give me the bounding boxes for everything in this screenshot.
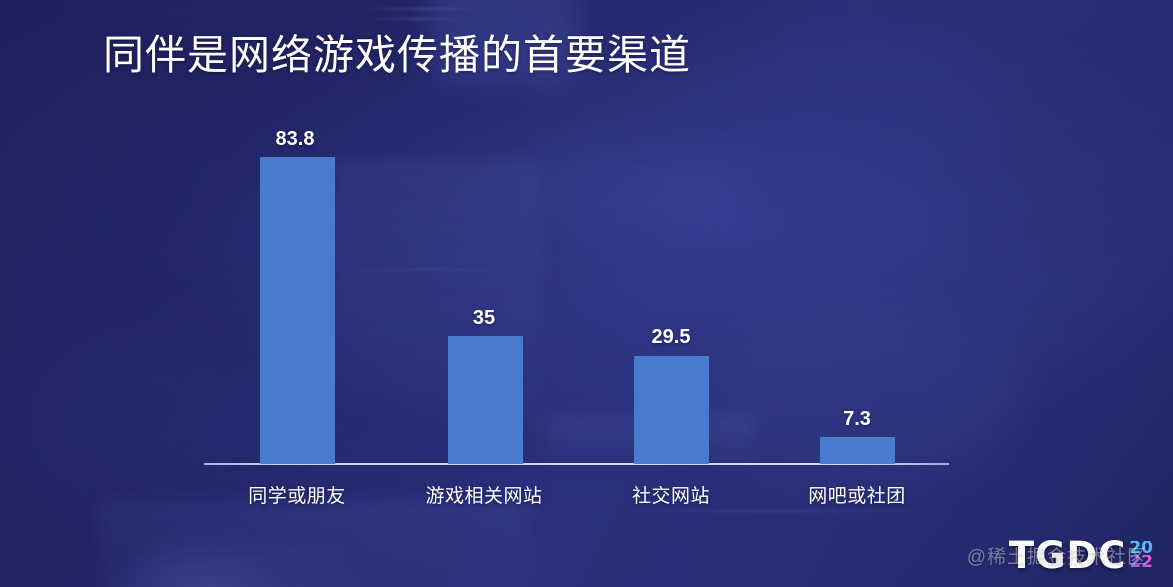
tgdc-logo-text: TGDC xyxy=(1009,538,1126,573)
slide-canvas: 同伴是网络游戏传播的首要渠道 83.8 同学或朋友 35 游戏相关网站 29.5… xyxy=(0,0,1173,587)
bar-1[interactable] xyxy=(448,336,523,464)
logo-year-bottom: 22 xyxy=(1129,555,1153,570)
bar-2[interactable] xyxy=(634,356,709,464)
tgdc-logo-year: 20 22 xyxy=(1129,538,1153,570)
category-label-0: 同学或朋友 xyxy=(202,481,392,508)
tgdc-logo: TGDC 20 22 xyxy=(1009,538,1153,573)
category-label-2: 社交网站 xyxy=(576,481,766,508)
bar-value-label: 29.5 xyxy=(606,326,736,349)
bar-value-label: 35 xyxy=(419,307,549,330)
bar-value-label: 83.8 xyxy=(230,128,360,151)
category-label-3: 网吧或社团 xyxy=(762,481,952,508)
bar-0[interactable] xyxy=(260,157,335,464)
bar-chart: 83.8 同学或朋友 35 游戏相关网站 29.5 社交网站 7.3 网吧或社团 xyxy=(0,0,1173,587)
category-label-1: 游戏相关网站 xyxy=(389,481,579,508)
bar-value-label: 7.3 xyxy=(792,408,922,431)
bar-3[interactable] xyxy=(820,437,895,464)
